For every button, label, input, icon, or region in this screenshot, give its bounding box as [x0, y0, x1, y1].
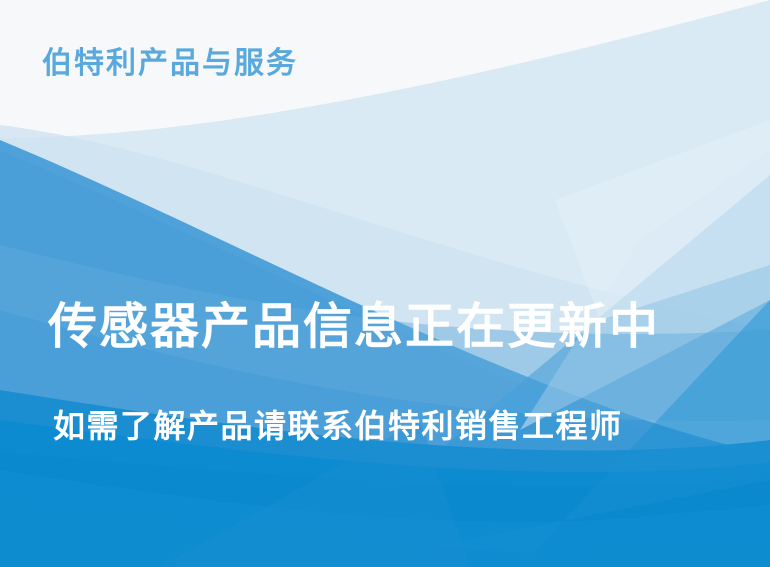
- main-heading: 传感器产品信息正在更新中: [48, 296, 660, 358]
- sub-heading: 如需了解产品请联系伯特利销售工程师: [53, 404, 623, 448]
- product-service-banner: 伯特利产品与服务 传感器产品信息正在更新中 如需了解产品请联系伯特利销售工程师: [0, 0, 770, 567]
- page-title: 伯特利产品与服务: [42, 44, 298, 84]
- decorative-wave-background: [0, 0, 770, 567]
